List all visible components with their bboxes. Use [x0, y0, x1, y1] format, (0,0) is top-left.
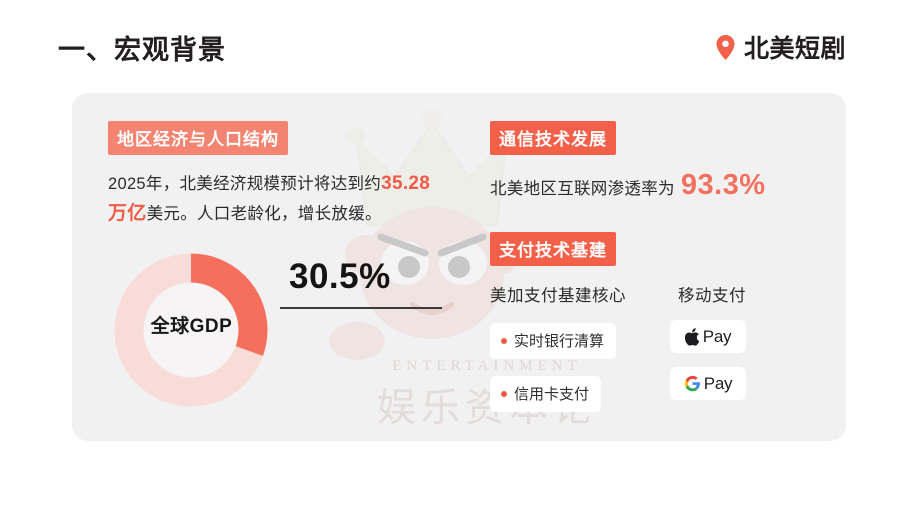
gdp-donut-chart: 全球GDP 30.5% [114, 245, 414, 415]
section-badge-payment: 支付技术基建 [490, 232, 616, 266]
internet-penetration-value: 93.3% [681, 169, 766, 202]
donut-leader-line [280, 307, 442, 309]
left-column: 地区经济与人口结构 2025年，北美经济规模预计将达到约35.28万亿美元。人口… [108, 121, 448, 229]
payment-columns: 美加支付基建核心 实时银行清算 信用卡支付 移动支付 [490, 282, 820, 412]
internet-penetration-label: 北美地区互联网渗透率为 [490, 175, 675, 199]
mobile-payment-heading: 移动支付 [662, 282, 812, 306]
chip-label: 实时银行清算 [514, 330, 604, 351]
paragraph-highlight-value: 35.28 [381, 173, 430, 194]
mobile-payment-column: 移动支付 Pay [662, 282, 812, 412]
slide-header: 一、宏观背景 北美短剧 [0, 28, 900, 74]
content-card: ENTERTAINMENT 娱乐资本论 地区经济与人口结构 2025年，北美经济… [72, 93, 846, 441]
paragraph-part-1: 2025年，北美经济规模预计将达到约 [108, 175, 381, 193]
paragraph-highlight-unit: 万亿 [108, 203, 147, 224]
donut-value-label: 30.5% [289, 257, 391, 297]
bullet-dot-icon [501, 338, 507, 344]
payment-core-heading: 美加支付基建核心 [490, 282, 662, 306]
economy-paragraph: 2025年，北美经济规模预计将达到约35.28万亿美元。人口老龄化，增长放缓。 [108, 169, 448, 229]
internet-penetration-stat: 北美地区互联网渗透率为 93.3% [490, 169, 820, 202]
brand-label: 北美短剧 [744, 29, 846, 65]
right-column: 通信技术发展 北美地区互联网渗透率为 93.3% 支付技术基建 美加支付基建核心… [490, 121, 820, 412]
apple-logo-icon [685, 328, 700, 346]
apple-pay-logo-card[interactable]: Pay [670, 320, 746, 353]
donut-center-label: 全球GDP [114, 311, 269, 338]
section-badge-telecom: 通信技术发展 [490, 121, 616, 155]
chip-credit-card-payment[interactable]: 信用卡支付 [490, 376, 601, 412]
section-badge-economy: 地区经济与人口结构 [108, 121, 288, 155]
bullet-dot-icon [501, 391, 507, 397]
google-pay-logo-card[interactable]: Pay [670, 367, 746, 400]
payment-core-column: 美加支付基建核心 实时银行清算 信用卡支付 [490, 282, 662, 412]
google-pay-label: Pay [704, 374, 732, 394]
google-logo-icon [684, 375, 701, 392]
paragraph-part-2: 美元。人口老龄化，增长放缓。 [147, 205, 382, 223]
chip-realtime-bank-clearing[interactable]: 实时银行清算 [490, 323, 616, 359]
page-title: 一、宏观背景 [58, 28, 226, 67]
chip-label: 信用卡支付 [514, 383, 589, 404]
brand-lockup: 北美短剧 [716, 29, 846, 65]
apple-pay-label: Pay [703, 327, 731, 347]
payment-section: 支付技术基建 美加支付基建核心 实时银行清算 信用卡支付 移动支付 [490, 232, 820, 412]
location-pin-icon [716, 35, 735, 60]
